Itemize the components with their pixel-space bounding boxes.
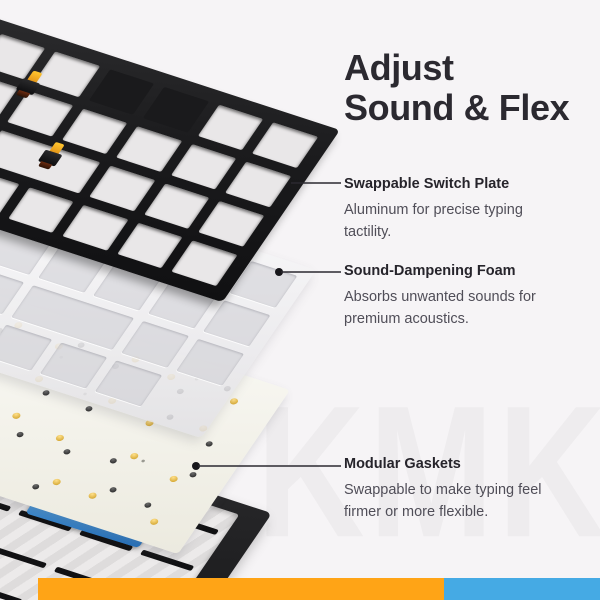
callout-body: Absorbs unwanted sounds for premium acou…: [344, 286, 559, 330]
page-title: Adjust Sound & Flex: [344, 48, 600, 128]
callout-modular-gaskets: Modular Gaskets Swappable to make typing…: [344, 455, 559, 523]
exploded-keyboard-illustration: [0, 0, 400, 600]
foam-cut: [177, 339, 245, 386]
foam-cut: [40, 342, 108, 389]
case-slot: [140, 550, 194, 571]
plate-cut: [89, 69, 155, 115]
plate-cut: [7, 91, 73, 137]
plate-cut: [116, 126, 182, 172]
plate-cut: [143, 87, 209, 133]
plate-cut: [8, 187, 74, 233]
plate-cut: [144, 183, 210, 229]
callout-body: Swappable to make typing feel firmer or …: [344, 479, 559, 523]
plate-cut: [62, 109, 128, 155]
callout-sound-dampening-foam: Sound-Dampening Foam Absorbs unwanted so…: [344, 262, 559, 330]
plate-cut: [63, 205, 129, 251]
foam-cut: [95, 360, 163, 407]
title-line-1: Adjust: [344, 48, 600, 88]
foam-cut: [122, 321, 190, 368]
orange-accent-bar: [38, 578, 444, 600]
plate-cut: [225, 162, 291, 208]
plate-cut: [117, 223, 183, 269]
pcb-cell: [124, 493, 196, 542]
plate-cut: [171, 144, 237, 190]
text-column: Adjust Sound & Flex Swappable Switch Pla…: [344, 0, 600, 600]
bottom-brand-bars: [0, 574, 600, 600]
callout-title: Sound-Dampening Foam: [344, 262, 559, 281]
plate-cut: [172, 241, 238, 287]
blue-accent-bar: [444, 578, 600, 600]
plate-cut: [199, 201, 265, 247]
callout-swappable-switch-plate: Swappable Switch Plate Aluminum for prec…: [344, 175, 559, 243]
plate-cut: [198, 105, 264, 151]
plate-cut: [252, 122, 318, 168]
case-slot: [0, 547, 47, 568]
title-line-2: Sound & Flex: [344, 88, 600, 128]
plate-cut: [89, 166, 155, 212]
foam-cut: [0, 324, 52, 371]
callout-body: Aluminum for precise typing tactility.: [344, 199, 559, 243]
callout-title: Swappable Switch Plate: [344, 175, 559, 194]
promo-graphic: KMK: [0, 0, 600, 600]
callout-title: Modular Gaskets: [344, 455, 559, 474]
foam-cut: [203, 300, 271, 347]
